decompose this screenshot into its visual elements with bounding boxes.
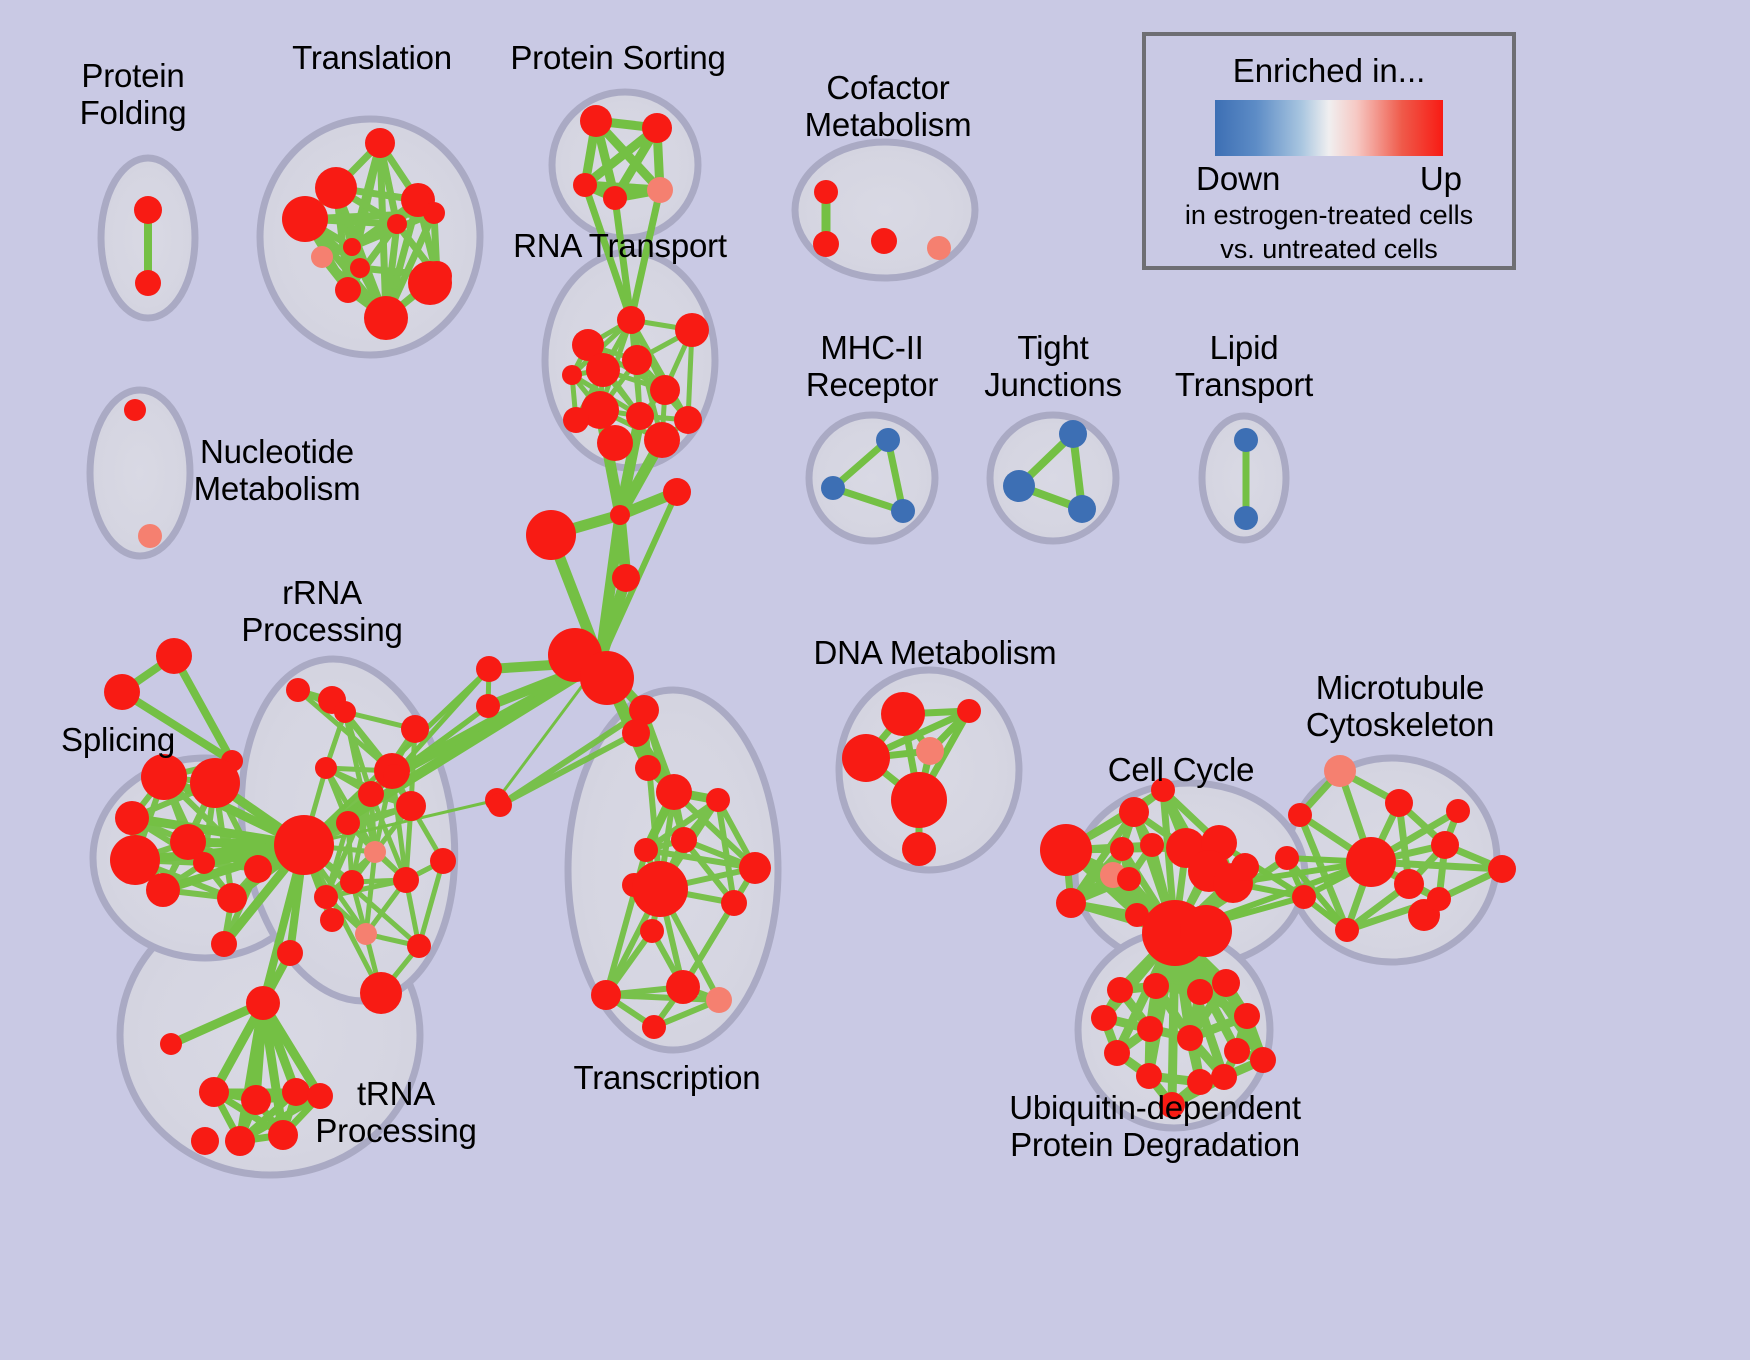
node bbox=[891, 499, 915, 523]
node bbox=[1040, 824, 1092, 876]
node bbox=[307, 1083, 333, 1109]
node bbox=[1394, 869, 1424, 899]
node bbox=[135, 270, 161, 296]
node bbox=[666, 970, 700, 1004]
node bbox=[286, 678, 310, 702]
node bbox=[622, 719, 650, 747]
node bbox=[1003, 470, 1035, 502]
enrichment-map-figure: Protein Folding Translation Protein Sort… bbox=[0, 0, 1750, 1360]
node bbox=[104, 674, 140, 710]
node bbox=[423, 202, 445, 224]
legend-caption-line1: in estrogen-treated cells bbox=[1185, 200, 1473, 232]
node bbox=[146, 873, 180, 907]
node bbox=[957, 699, 981, 723]
node bbox=[563, 407, 589, 433]
node bbox=[814, 180, 838, 204]
node bbox=[314, 885, 338, 909]
node bbox=[408, 261, 452, 305]
node bbox=[1427, 887, 1451, 911]
node bbox=[1234, 506, 1258, 530]
node bbox=[387, 214, 407, 234]
node bbox=[739, 852, 771, 884]
node bbox=[1068, 495, 1096, 523]
node bbox=[642, 1015, 666, 1039]
node bbox=[340, 870, 364, 894]
node bbox=[364, 841, 386, 863]
node bbox=[635, 755, 661, 781]
node bbox=[881, 692, 925, 736]
node bbox=[360, 972, 402, 1014]
node bbox=[1212, 969, 1240, 997]
node bbox=[634, 838, 658, 862]
node bbox=[1431, 831, 1459, 859]
node bbox=[225, 1126, 255, 1156]
node bbox=[476, 694, 500, 718]
node bbox=[268, 1120, 298, 1150]
node bbox=[335, 277, 361, 303]
node bbox=[1234, 428, 1258, 452]
node bbox=[1224, 1038, 1250, 1064]
node bbox=[1346, 837, 1396, 887]
node bbox=[124, 399, 146, 421]
node bbox=[597, 425, 633, 461]
legend-caption-line2: vs. untreated cells bbox=[1220, 234, 1438, 266]
node bbox=[1385, 789, 1413, 817]
node bbox=[277, 940, 303, 966]
node bbox=[586, 353, 620, 387]
node bbox=[160, 1033, 182, 1055]
node bbox=[1324, 755, 1356, 787]
node bbox=[407, 934, 431, 958]
node bbox=[612, 564, 640, 592]
node bbox=[315, 757, 337, 779]
legend-endpoints: Down Up bbox=[1196, 160, 1462, 198]
node bbox=[876, 428, 900, 452]
color-scale-bar bbox=[1215, 100, 1443, 156]
node bbox=[401, 715, 429, 743]
node bbox=[632, 861, 688, 917]
node bbox=[603, 186, 627, 210]
node bbox=[430, 848, 456, 874]
node bbox=[336, 811, 360, 835]
node bbox=[580, 651, 634, 705]
node bbox=[1143, 973, 1169, 999]
node bbox=[663, 478, 691, 506]
node bbox=[1159, 1092, 1185, 1118]
node bbox=[1091, 1005, 1117, 1031]
node bbox=[488, 793, 512, 817]
node bbox=[334, 701, 356, 723]
node bbox=[1234, 1003, 1260, 1029]
node bbox=[350, 258, 370, 278]
node bbox=[674, 406, 702, 434]
node bbox=[1056, 888, 1086, 918]
node bbox=[1107, 977, 1133, 1003]
node bbox=[1335, 918, 1359, 942]
node bbox=[343, 238, 361, 256]
node bbox=[393, 867, 419, 893]
node bbox=[1250, 1047, 1276, 1073]
node bbox=[706, 788, 730, 812]
node bbox=[1177, 1025, 1203, 1051]
node bbox=[644, 422, 680, 458]
node bbox=[141, 754, 187, 800]
node bbox=[562, 365, 582, 385]
node bbox=[842, 734, 890, 782]
node bbox=[241, 1085, 271, 1115]
node bbox=[580, 105, 612, 137]
node bbox=[358, 781, 384, 807]
node bbox=[315, 167, 357, 209]
node bbox=[610, 505, 630, 525]
node bbox=[364, 296, 408, 340]
node bbox=[190, 758, 240, 808]
node bbox=[916, 737, 944, 765]
node bbox=[476, 656, 502, 682]
node bbox=[1211, 1064, 1237, 1090]
node bbox=[134, 196, 162, 224]
node bbox=[396, 791, 426, 821]
node bbox=[871, 228, 897, 254]
legend-box: Enriched in... Down Up in estrogen-treat… bbox=[1142, 32, 1516, 270]
legend-down-label: Down bbox=[1196, 160, 1280, 198]
node bbox=[244, 855, 272, 883]
node bbox=[1140, 833, 1164, 857]
node bbox=[813, 231, 839, 257]
node bbox=[1446, 799, 1470, 823]
node bbox=[1137, 1016, 1163, 1042]
node bbox=[191, 1127, 219, 1155]
node bbox=[355, 923, 377, 945]
node bbox=[902, 832, 936, 866]
node bbox=[675, 313, 709, 347]
node bbox=[138, 524, 162, 548]
node bbox=[217, 883, 247, 913]
node bbox=[282, 196, 328, 242]
node bbox=[320, 908, 344, 932]
node bbox=[1110, 837, 1134, 861]
node bbox=[526, 510, 576, 560]
node bbox=[821, 476, 845, 500]
node bbox=[1119, 797, 1149, 827]
node bbox=[650, 375, 680, 405]
node bbox=[311, 246, 333, 268]
node bbox=[156, 638, 192, 674]
node bbox=[656, 774, 692, 810]
node bbox=[1187, 1069, 1213, 1095]
legend-up-label: Up bbox=[1420, 160, 1462, 198]
node bbox=[1117, 867, 1141, 891]
node bbox=[1136, 1063, 1162, 1089]
node bbox=[622, 345, 652, 375]
node bbox=[640, 919, 664, 943]
node bbox=[1104, 1040, 1130, 1066]
node bbox=[891, 772, 947, 828]
node bbox=[927, 236, 951, 260]
legend-title: Enriched in... bbox=[1233, 52, 1426, 90]
node bbox=[365, 128, 395, 158]
node bbox=[573, 173, 597, 197]
node bbox=[1187, 979, 1213, 1005]
node bbox=[617, 306, 645, 334]
node bbox=[282, 1078, 310, 1106]
node bbox=[706, 987, 732, 1013]
node bbox=[1059, 420, 1087, 448]
node bbox=[274, 815, 334, 875]
node bbox=[721, 890, 747, 916]
node bbox=[591, 980, 621, 1010]
node bbox=[246, 986, 280, 1020]
cluster-protein-sorting bbox=[552, 92, 698, 238]
node bbox=[1292, 885, 1316, 909]
node bbox=[193, 852, 215, 874]
node bbox=[1180, 905, 1232, 957]
node bbox=[1288, 803, 1312, 827]
node bbox=[115, 801, 149, 835]
node bbox=[211, 931, 237, 957]
node bbox=[1488, 855, 1516, 883]
node bbox=[383, 764, 405, 786]
node bbox=[1275, 846, 1299, 870]
node bbox=[642, 113, 672, 143]
node bbox=[1231, 853, 1259, 881]
node bbox=[647, 177, 673, 203]
node bbox=[199, 1077, 229, 1107]
node bbox=[1151, 778, 1175, 802]
node bbox=[671, 827, 697, 853]
node bbox=[626, 402, 654, 430]
